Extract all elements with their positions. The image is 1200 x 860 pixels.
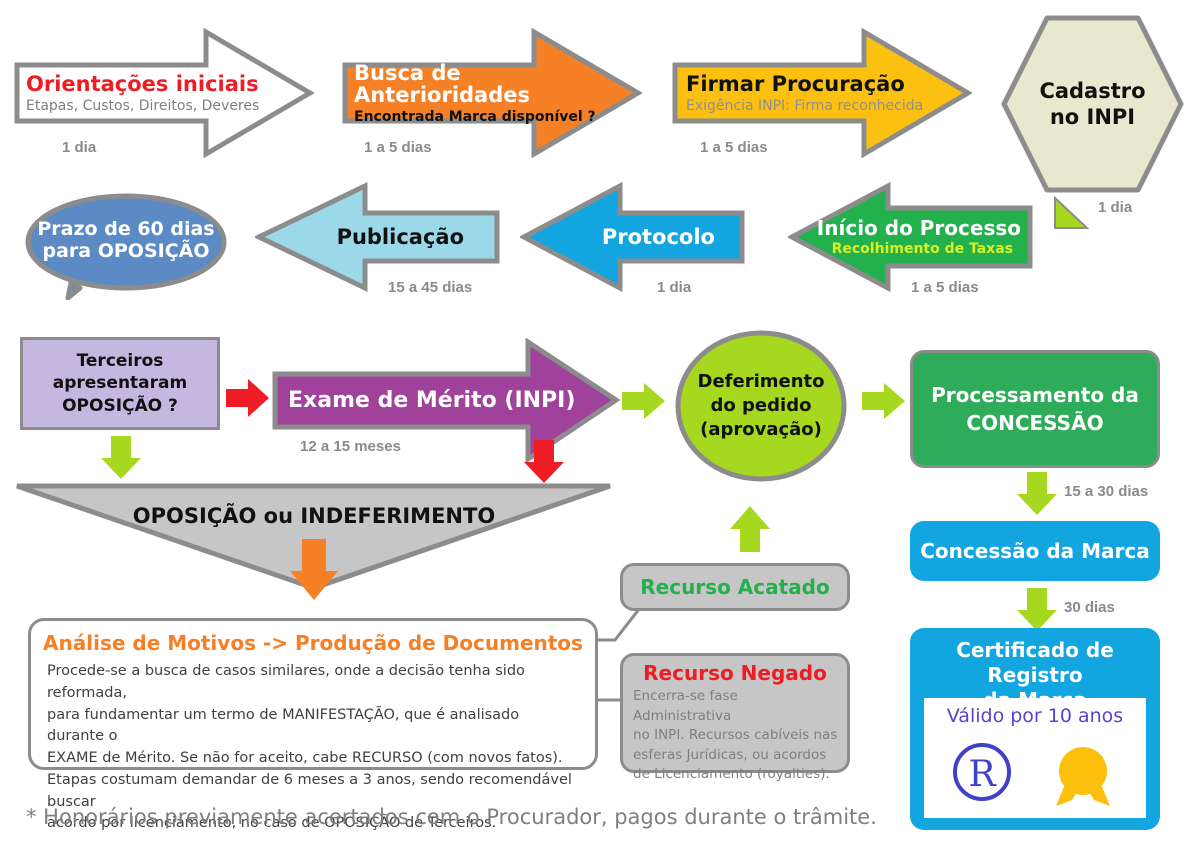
duration-orientacoes: 1 dia [62,139,96,156]
green-down-arrow-terceiros [100,436,142,480]
step-title-line2: no INPI [1050,104,1135,130]
step-line3: (aprovação) [700,418,822,442]
decision-terceiros-oposicao[interactable]: Terceiros apresentaram OPOSIÇÃO ? [20,337,220,430]
panel-body-line: Procede-se a busca de casos similares, o… [47,661,579,705]
decision-line3: OPOSIÇÃO ? [62,395,178,417]
left-arrow-shape [788,182,1033,292]
panel-recurso-negado[interactable]: Recurso Negado Encerra-se fase Administr… [620,653,850,773]
svg-text:R: R [968,754,996,795]
red-right-arrow-1 [226,378,270,418]
green-up-arrow-recurso-acatado [729,505,771,553]
panel-body-line: para fundamentar um termo de MANIFESTAÇÃ… [47,705,579,749]
footer-note: * Honorários previamente acertados com o… [26,805,877,829]
red-down-arrow-1 [523,440,565,484]
duration-cadastro: 1 dia [1098,199,1132,216]
panel-title: Análise de Motivos -> Produção de Docume… [31,621,595,655]
certificate-inner-card: Válido por 10 anos R [924,698,1146,818]
panel-title: Recurso Negado [623,656,847,685]
green-down-arrow-concessao [1016,472,1058,516]
callout-prazo-oposicao[interactable]: Prazo de 60 dias para OPOSIÇÃO [22,190,237,300]
step-title-line1: Cadastro [1039,78,1145,104]
decision-line2: apresentaram [53,372,187,394]
duration-concessao: 30 dias [1064,599,1115,616]
duration-busca: 1 a 5 dias [364,139,432,156]
green-right-arrow-1 [622,382,666,420]
panel-body-line: esferas Jurídicas, ou acordos [633,746,839,766]
step-inicio-do-processo[interactable]: Início do Processo Recolhimento de Taxas [788,182,1033,292]
duration-exame: 12 a 15 meses [300,438,401,455]
step-certificado-registro-marca[interactable]: Certificado de Registro da Marca Válido … [910,628,1160,830]
certificate-line1: Certificado de Registro [910,638,1160,688]
right-arrow-shape [14,28,314,158]
panel-body: Encerra-se fase Administrativa no INPI. … [623,685,847,785]
orange-down-arrow [288,539,340,601]
left-arrow-shape [520,182,745,292]
step-concessao-da-marca[interactable]: Concessão da Marca [910,521,1160,581]
step-line2: CONCESSÃO [966,409,1103,437]
step-title: Concessão da Marca [920,539,1149,563]
flowchart-canvas: Orientações iniciais Etapas, Custos, Dir… [0,0,1200,860]
step-cadastro-no-inpi[interactable]: Cadastro no INPI [1000,14,1185,194]
callout-line2: para OPOSIÇÃO [42,240,209,262]
step-line1: Deferimento [698,370,825,394]
step-line2: do pedido [711,394,812,418]
step-line1: Processamento da [931,381,1139,409]
duration-publicacao: 15 a 45 dias [388,279,472,296]
panel-body-line: de Licenciamento (royalties). [633,765,839,785]
certificate-validity: Válido por 10 anos [924,698,1146,727]
step-protocolo[interactable]: Protocolo [520,182,745,292]
panel-body-line: no INPI. Recursos cabíveis nas [633,726,839,746]
award-ribbon-icon [1052,744,1114,808]
panel-recurso-acatado[interactable]: Recurso Acatado [620,563,850,611]
panel-body-line: EXAME de Mérito. Se não for aceito, cabe… [47,748,579,770]
panel-body-line: Encerra-se fase Administrativa [633,687,839,726]
step-processamento-concessao[interactable]: Processamento da CONCESSÃO [910,350,1160,468]
banner-label: OPOSIÇÃO ou INDEFERIMENTO [14,504,614,528]
panel-title: Recurso Acatado [640,575,829,599]
green-triangle-marker [1053,196,1089,230]
green-right-arrow-2 [862,382,906,420]
green-down-arrow-certificado [1016,588,1058,632]
step-deferimento-do-pedido[interactable]: Deferimento do pedido (aprovação) [675,330,847,482]
callout-line1: Prazo de 60 dias [37,218,214,240]
left-arrow-shape [255,182,500,292]
duration-processamento: 15 a 30 dias [1064,483,1148,500]
panel-analise-de-motivos[interactable]: Análise de Motivos -> Produção de Docume… [28,618,598,770]
duration-procuracao: 1 a 5 dias [700,139,768,156]
step-publicacao[interactable]: Publicação [255,182,500,292]
step-orientacoes-iniciais[interactable]: Orientações iniciais Etapas, Custos, Dir… [14,28,314,158]
duration-inicio: 1 a 5 dias [911,279,979,296]
decision-line1: Terceiros [77,350,164,372]
registered-trademark-icon: R [951,741,1013,803]
duration-protocolo: 1 dia [657,279,691,296]
